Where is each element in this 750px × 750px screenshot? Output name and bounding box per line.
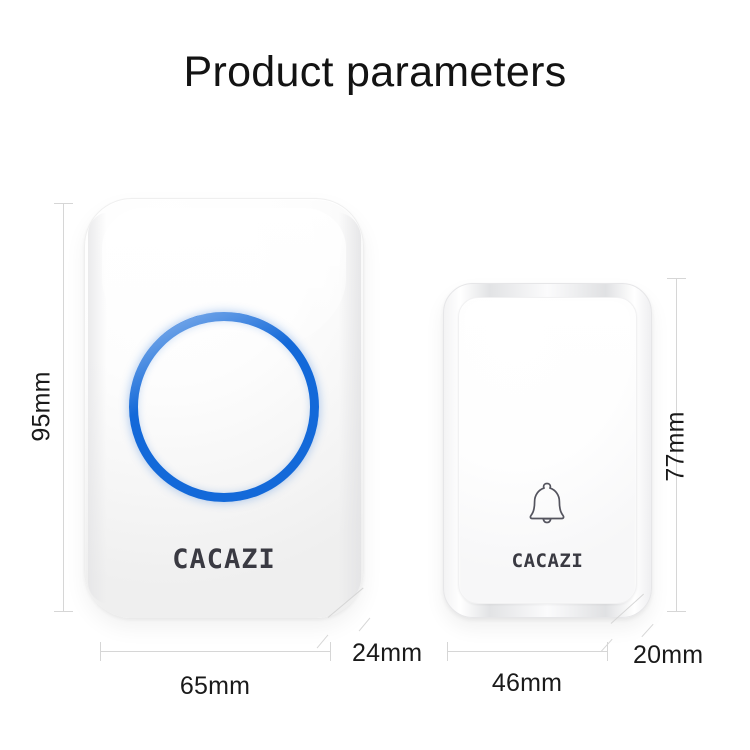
dimension-tick-transmitter-width-left [447,642,448,661]
dimension-line-receiver-height [63,203,64,612]
blue-led-ring-icon [129,312,319,502]
dimension-tick-receiver-depth-near [317,635,329,649]
dimension-tick-receiver-height-bottom [54,611,73,612]
bell-icon [518,475,576,533]
dimension-tick-receiver-height-top [54,203,73,204]
transmitter-brand-logo: CACAZI [458,550,637,572]
product-receiver: CACAZI [84,198,364,618]
dimension-label-receiver-height: 95mm [28,360,57,454]
dimension-tick-transmitter-height-top [667,278,686,279]
dimension-label-transmitter-height: 77mm [662,400,691,494]
dimension-label-receiver-width: 65mm [100,672,330,701]
dimension-line-receiver-width [100,651,330,652]
dimension-label-transmitter-depth: 20mm [633,641,703,670]
product-transmitter: CACAZI [443,283,652,618]
dimension-line-transmitter-width [447,651,607,652]
receiver-brand-logo: CACAZI [84,544,364,575]
dimension-tick-receiver-width-left [100,642,101,661]
dimension-label-receiver-depth: 24mm [352,639,422,668]
product-parameters-diagram: Product parameters CACAZI CACAZI 95mm 65… [0,0,750,750]
page-title: Product parameters [0,46,750,98]
dimension-tick-receiver-depth-far [359,618,371,632]
dimension-tick-receiver-width-right [330,642,331,661]
dimension-tick-transmitter-height-bottom [667,611,686,612]
dimension-tick-transmitter-depth-far [641,624,653,637]
dimension-label-transmitter-width: 46mm [447,669,607,698]
